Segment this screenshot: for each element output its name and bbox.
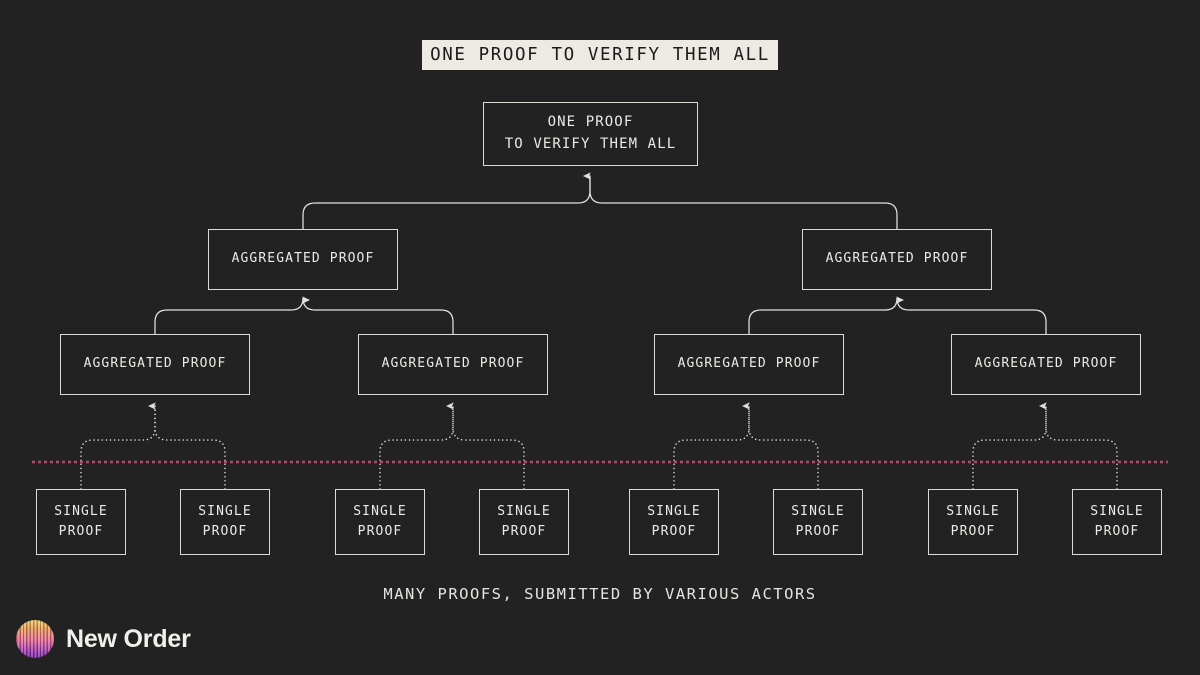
edge-l3-3-single-6 — [749, 406, 818, 489]
new-order-logo-icon — [16, 620, 54, 658]
edge-root-l2-right — [590, 176, 897, 229]
brand-lockup: New Order — [16, 620, 191, 658]
node-single-proof-7: SINGLE PROOF — [928, 489, 1018, 555]
node-label: AGGREGATED PROOF — [975, 354, 1118, 374]
node-aggregated-proof-l3-4: AGGREGATED PROOF — [951, 334, 1141, 395]
node-label: AGGREGATED PROOF — [826, 249, 969, 269]
edge-l3-2-single-3 — [380, 406, 453, 489]
node-label-line2: PROOF — [502, 522, 547, 542]
edge-l2left-l3-2 — [303, 298, 453, 334]
node-label-line1: SINGLE — [497, 502, 551, 522]
node-label-line1: SINGLE — [353, 502, 407, 522]
node-single-proof-8: SINGLE PROOF — [1072, 489, 1162, 555]
node-one-proof-to-verify-them-all: ONE PROOF TO VERIFY THEM ALL — [483, 102, 698, 166]
node-label: AGGREGATED PROOF — [84, 354, 227, 374]
brand-name: New Order — [66, 625, 191, 654]
logo-stripes — [16, 620, 54, 658]
edge-l3-3-single-5 — [674, 406, 749, 489]
node-aggregated-proof-l2-left: AGGREGATED PROOF — [208, 229, 398, 290]
node-single-proof-4: SINGLE PROOF — [479, 489, 569, 555]
node-single-proof-3: SINGLE PROOF — [335, 489, 425, 555]
node-single-proof-1: SINGLE PROOF — [36, 489, 126, 555]
node-label-line1: SINGLE — [647, 502, 701, 522]
edge-l3-1-single-1 — [81, 406, 155, 489]
node-label: AGGREGATED PROOF — [678, 354, 821, 374]
node-aggregated-proof-l2-right: AGGREGATED PROOF — [802, 229, 992, 290]
node-label-line2: PROOF — [203, 522, 248, 542]
node-aggregated-proof-l3-2: AGGREGATED PROOF — [358, 334, 548, 395]
node-label-line2: PROOF — [358, 522, 403, 542]
node-label-line2: PROOF — [796, 522, 841, 542]
node-label-line2: PROOF — [59, 522, 104, 542]
edge-l2left-l3-1 — [155, 298, 303, 334]
edge-l2right-l3-4 — [897, 298, 1046, 334]
node-label-line1: SINGLE — [54, 502, 108, 522]
root-node-line2: TO VERIFY THEM ALL — [505, 134, 677, 156]
root-node-line1: ONE PROOF — [548, 112, 634, 134]
node-label-line2: PROOF — [652, 522, 697, 542]
node-aggregated-proof-l3-3: AGGREGATED PROOF — [654, 334, 844, 395]
node-single-proof-5: SINGLE PROOF — [629, 489, 719, 555]
node-label-line2: PROOF — [951, 522, 996, 542]
node-label-line1: SINGLE — [198, 502, 252, 522]
node-single-proof-2: SINGLE PROOF — [180, 489, 270, 555]
edge-l3-1-single-2 — [155, 406, 225, 489]
page-title-banner: ONE PROOF TO VERIFY THEM ALL — [422, 40, 778, 70]
node-label: AGGREGATED PROOF — [382, 354, 525, 374]
edge-l3-4-single-7 — [973, 406, 1046, 489]
node-label-line1: SINGLE — [791, 502, 845, 522]
edge-l2right-l3-3 — [749, 298, 897, 334]
node-label-line1: SINGLE — [1090, 502, 1144, 522]
edge-root-l2-left — [303, 176, 590, 229]
node-label-line1: SINGLE — [946, 502, 1000, 522]
node-single-proof-6: SINGLE PROOF — [773, 489, 863, 555]
diagram-caption: MANY PROOFS, SUBMITTED BY VARIOUS ACTORS — [0, 585, 1200, 603]
node-label-line2: PROOF — [1095, 522, 1140, 542]
edge-l3-2-single-4 — [453, 406, 524, 489]
edge-l3-4-single-8 — [1046, 406, 1117, 489]
node-aggregated-proof-l3-1: AGGREGATED PROOF — [60, 334, 250, 395]
node-label: AGGREGATED PROOF — [232, 249, 375, 269]
